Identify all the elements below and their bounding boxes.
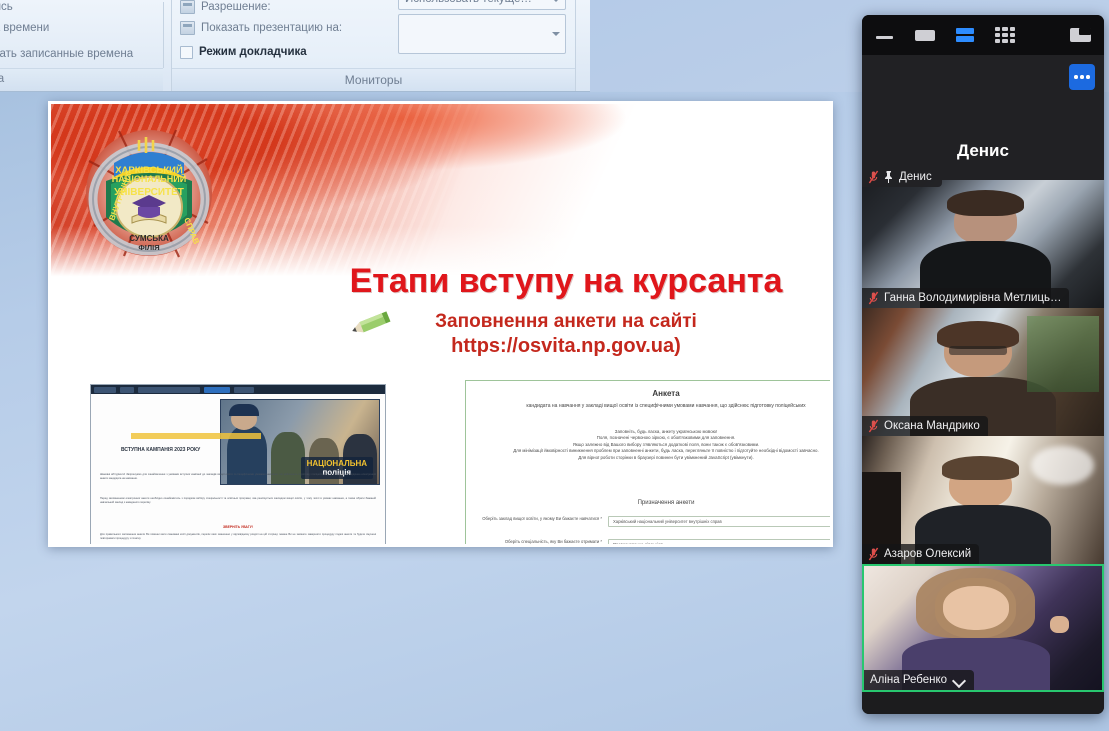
participant-tiles: Ганна Володимирівна Метлиць… Оксана Манд…	[862, 180, 1104, 714]
participant-label: Ганна Володимирівна Метлиць…	[862, 288, 1069, 308]
speaker-view-icon[interactable]	[914, 25, 936, 45]
ribbon-label-record: апись	[0, 1, 13, 14]
participant-name: Оксана Мандрико	[884, 420, 980, 432]
site-paragraph-2: Перед заповненням електронної анкети нео…	[100, 497, 376, 504]
participant-tile-active[interactable]: Аліна Ребенко	[862, 564, 1104, 692]
presentation-slide[interactable]: СУМСЬКА ФІЛІЯ ХАРКІВСЬКИЙ НАЦІОНАЛЬНИЙ У…	[48, 101, 833, 547]
browser-tab-active	[204, 387, 230, 393]
participant-tile[interactable]: Ганна Володимирівна Метлиць…	[862, 180, 1104, 308]
zoom-view-toolbar	[862, 15, 1104, 55]
questionnaire-form-panel: Анкета кандидата на навчання у закладі в…	[465, 380, 833, 547]
slide-title: Етапи вступу на курсанта	[306, 262, 826, 301]
browser-tab	[120, 387, 134, 393]
participant-tile[interactable]: Оксана Мандрико	[862, 308, 1104, 436]
mic-off-icon	[868, 547, 879, 561]
browser-tab	[234, 387, 254, 393]
minimize-icon[interactable]	[874, 25, 896, 45]
form-row-institution: Оберіть заклад вищої освіти, у якому Ви …	[474, 516, 833, 530]
ribbon-divider	[163, 2, 164, 68]
form-instructions: Заповніть, будь ласка, анкету українсько…	[480, 429, 833, 461]
participant-tile[interactable]: Азаров Олексий	[862, 436, 1104, 564]
ribbon-group-footer-monitors: Мониторы	[172, 68, 575, 92]
active-speaker-name: Денис	[862, 141, 1104, 161]
ribbon-label-show-on: Показать презентацию на:	[201, 22, 342, 35]
badge-line1: НАЦІОНАЛЬНА	[307, 459, 367, 468]
pin-icon	[884, 170, 894, 184]
ribbon-label-use-timings: зовать записанные времена	[0, 48, 133, 61]
ribbon-group-monitors: Разрешение: Показать презентацию на: Реж…	[171, 0, 576, 92]
strip-view-icon[interactable]	[954, 25, 976, 45]
more-options-button[interactable]	[1069, 64, 1095, 90]
participant-label: Азаров Олексий	[862, 544, 979, 564]
ribbon-group-footer-setup: йка	[0, 68, 163, 92]
form-instruction-line: Для мінімізації ймовірності виникнення п…	[480, 448, 833, 454]
form-label-specialty: Оберіть спеціальність, яку Ви бажаєте от…	[474, 539, 602, 545]
site-paragraph-1: Шановні абітурієнти! Запрошуємо для озна…	[100, 473, 376, 480]
ribbon-row-show-on[interactable]: Показать презентацию на:	[180, 21, 342, 35]
monitor-icon	[180, 21, 195, 35]
browser-tab	[138, 387, 200, 393]
form-section-title: Призначення анкети	[466, 500, 833, 506]
chevron-down-icon	[552, 0, 560, 2]
ribbon-row-presenter-view[interactable]: Режим докладчика	[180, 46, 307, 59]
resolution-icon	[180, 0, 195, 14]
participant-label: Аліна Ребенко	[864, 670, 974, 690]
browser-tab	[94, 387, 116, 393]
powerpoint-ribbon: апись йка времени зовать записанные врем…	[0, 0, 590, 92]
ribbon-group-label-setup: йка	[0, 73, 4, 86]
participant-name: Азаров Олексий	[884, 548, 971, 560]
site-red-note: ЗВЕРНІТЬ УВАГУ!	[91, 525, 385, 529]
svg-text:СУМСЬКА: СУМСЬКА	[129, 234, 169, 243]
resolution-dropdown-value: Использовать текуще…	[405, 0, 532, 5]
site-paragraph-3: Для правильного заповнення анкети Ви пов…	[100, 533, 376, 540]
chevron-down-icon	[552, 32, 560, 36]
form-select-institution[interactable]: Харківський національний університет вну…	[608, 516, 833, 527]
university-emblem-icon: СУМСЬКА ФІЛІЯ ХАРКІВСЬКИЙ НАЦІОНАЛЬНИЙ У…	[84, 121, 214, 263]
ribbon-row-resolution[interactable]: Разрешение:	[180, 0, 271, 14]
participant-label: Оксана Мандрико	[862, 416, 988, 436]
resolution-dropdown[interactable]: Использовать текуще…	[398, 0, 566, 10]
show-on-dropdown[interactable]	[398, 14, 566, 54]
zoom-meeting-panel[interactable]: Денис Ганна Володимирівна Метлиць…	[862, 15, 1104, 714]
form-row-specialty: Оберіть спеціальність, яку Ви бажаєте от…	[474, 539, 833, 547]
form-subtitle: кандидата на навчання у закладі вищої ос…	[492, 403, 833, 410]
form-title: Анкета	[466, 389, 833, 398]
mic-off-icon	[868, 170, 879, 184]
pinned-participant-name: Денис	[899, 171, 932, 183]
gallery-view-icon[interactable]	[994, 25, 1016, 45]
popout-icon[interactable]	[1070, 25, 1092, 45]
ribbon-label-resolution: Разрешение:	[201, 1, 271, 14]
site-heading-dark: ВСТУПНА КАМПАНІЯ 2023 РОКУ	[121, 447, 200, 453]
svg-text:ФІЛІЯ: ФІЛІЯ	[138, 243, 159, 252]
pencil-icon	[349, 307, 393, 341]
chevron-down-icon[interactable]	[952, 673, 966, 687]
participant-name: Аліна Ребенко	[870, 674, 947, 686]
ribbon-group-label-monitors: Мониторы	[345, 74, 402, 87]
zoom-active-speaker-stage: Денис	[862, 55, 1104, 180]
site-heading-yellow	[131, 433, 261, 439]
mic-off-icon	[868, 419, 879, 433]
ribbon-label-presenter-view: Режим докладчика	[199, 46, 307, 59]
browser-tab-bar	[91, 385, 385, 394]
pinned-participant-label: Денис	[862, 167, 942, 187]
website-screenshot: НАЦІОНАЛЬНА поліція ВСТУПНА КАМПАНІЯ 202…	[90, 384, 386, 547]
mic-off-icon	[868, 291, 879, 305]
form-instruction-line: Для вірної роботи сторінки в браузері по…	[480, 455, 833, 461]
form-label-institution: Оберіть заклад вищої освіти, у якому Ви …	[474, 516, 602, 522]
form-select-specialty[interactable]: Правоохоронна діяльність	[608, 539, 833, 547]
ribbon-label-timing: йка времени	[0, 22, 49, 35]
participant-name: Ганна Володимирівна Метлиць…	[884, 292, 1061, 304]
ribbon-group-setup: апись йка времени зовать записанные врем…	[0, 0, 163, 92]
presenter-view-checkbox[interactable]	[180, 46, 193, 59]
